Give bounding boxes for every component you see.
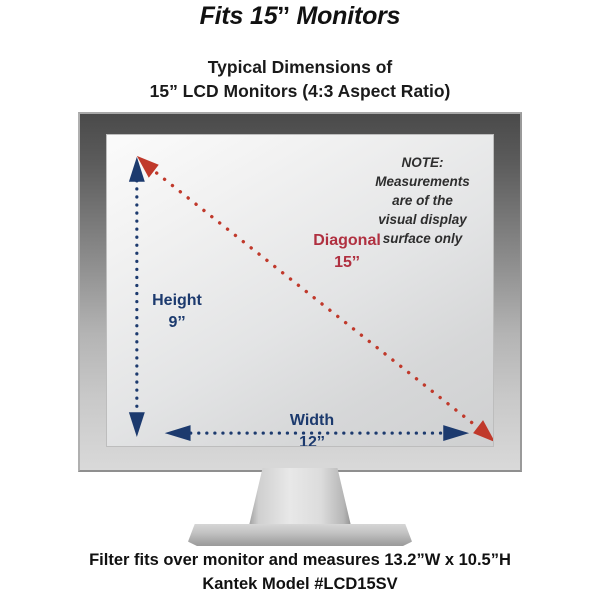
footer-line-2: Kantek Model #LCD15SV	[0, 572, 600, 596]
page-title: Fits 15ˮ Monitors	[0, 2, 600, 31]
height-label-value: 9ˮ	[127, 312, 227, 334]
footer-line-1: Filter fits over monitor and measures 13…	[0, 548, 600, 572]
diagonal-label-text: Diagonal	[287, 230, 407, 252]
note-line-3: are of the	[360, 191, 485, 210]
width-label: Width 12ˮ	[257, 410, 367, 447]
subtitle-line-1: Typical Dimensions of	[0, 55, 600, 79]
monitor-illustration: NOTE: Measurements are of the visual dis…	[78, 112, 522, 472]
footer-text: Filter fits over monitor and measures 13…	[0, 548, 600, 596]
diagonal-label-value: 15ˮ	[287, 252, 407, 274]
note-line-4: visual display	[360, 210, 485, 229]
width-label-text: Width	[257, 410, 367, 432]
note-line-2: Measurements	[360, 172, 485, 191]
monitor-screen: NOTE: Measurements are of the visual dis…	[106, 134, 494, 447]
subtitle: Typical Dimensions of 15” LCD Monitors (…	[0, 55, 600, 103]
monitor-stand-base	[188, 524, 412, 546]
subtitle-line-2: 15” LCD Monitors (4:3 Aspect Ratio)	[0, 79, 600, 103]
width-label-value: 12ˮ	[257, 432, 367, 447]
note-line-1: NOTE:	[360, 153, 485, 172]
diagonal-label: Diagonal 15ˮ	[287, 230, 407, 274]
height-label-text: Height	[127, 290, 227, 312]
monitor-stand-neck	[248, 468, 352, 530]
height-label: Height 9ˮ	[127, 290, 227, 334]
